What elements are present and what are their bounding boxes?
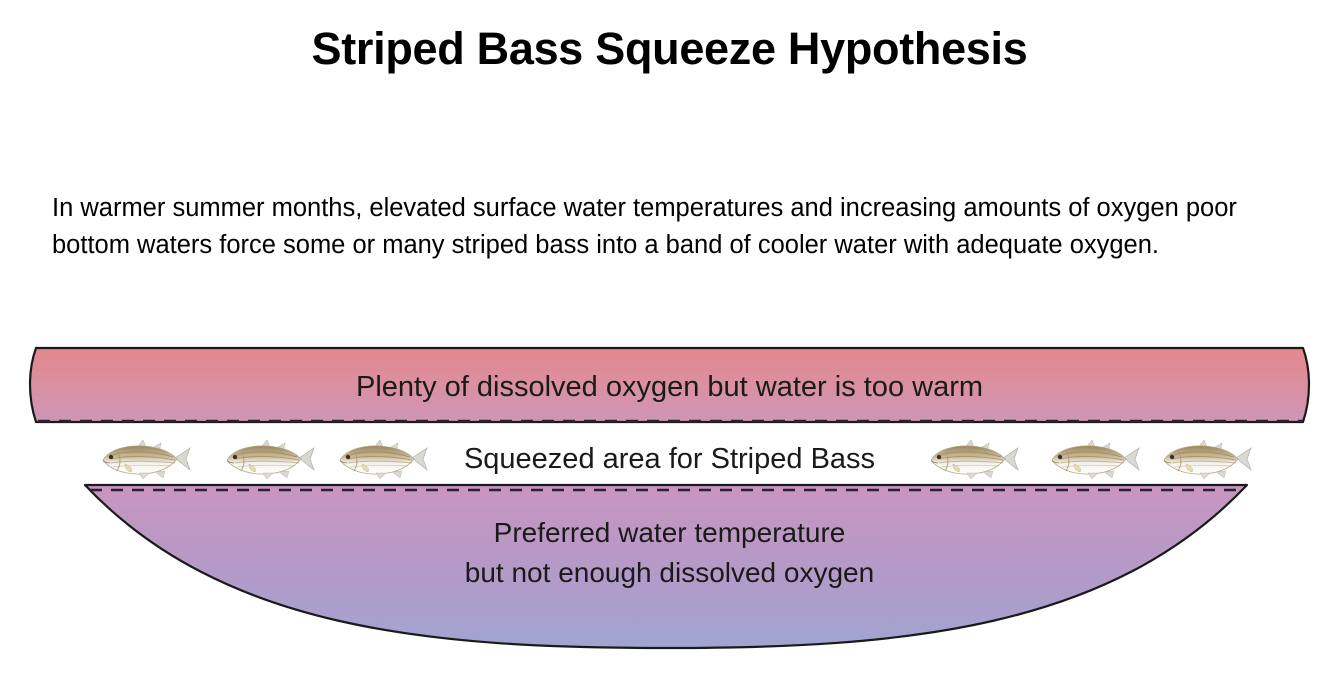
striped-bass-fish-icon xyxy=(334,436,430,482)
striped-bass-fish-icon xyxy=(1158,436,1254,482)
striped-bass-fish-icon xyxy=(1046,436,1142,482)
striped-bass-fish-icon xyxy=(221,436,317,482)
warm-layer-label: Plenty of dissolved oxygen but water is … xyxy=(0,370,1339,404)
page-title: Striped Bass Squeeze Hypothesis xyxy=(0,22,1339,76)
bottom-layer-label-line1: Preferred water temperature xyxy=(0,513,1339,553)
bottom-layer-label-line2: but not enough dissolved oxygen xyxy=(0,553,1339,593)
striped-bass-fish-icon xyxy=(925,436,1021,482)
bottom-layer-label: Preferred water temperature but not enou… xyxy=(0,513,1339,593)
intro-paragraph: In warmer summer months, elevated surfac… xyxy=(52,190,1292,264)
striped-bass-squeeze-diagram: Plenty of dissolved oxygen but water is … xyxy=(0,330,1339,660)
striped-bass-fish-icon xyxy=(97,436,193,482)
